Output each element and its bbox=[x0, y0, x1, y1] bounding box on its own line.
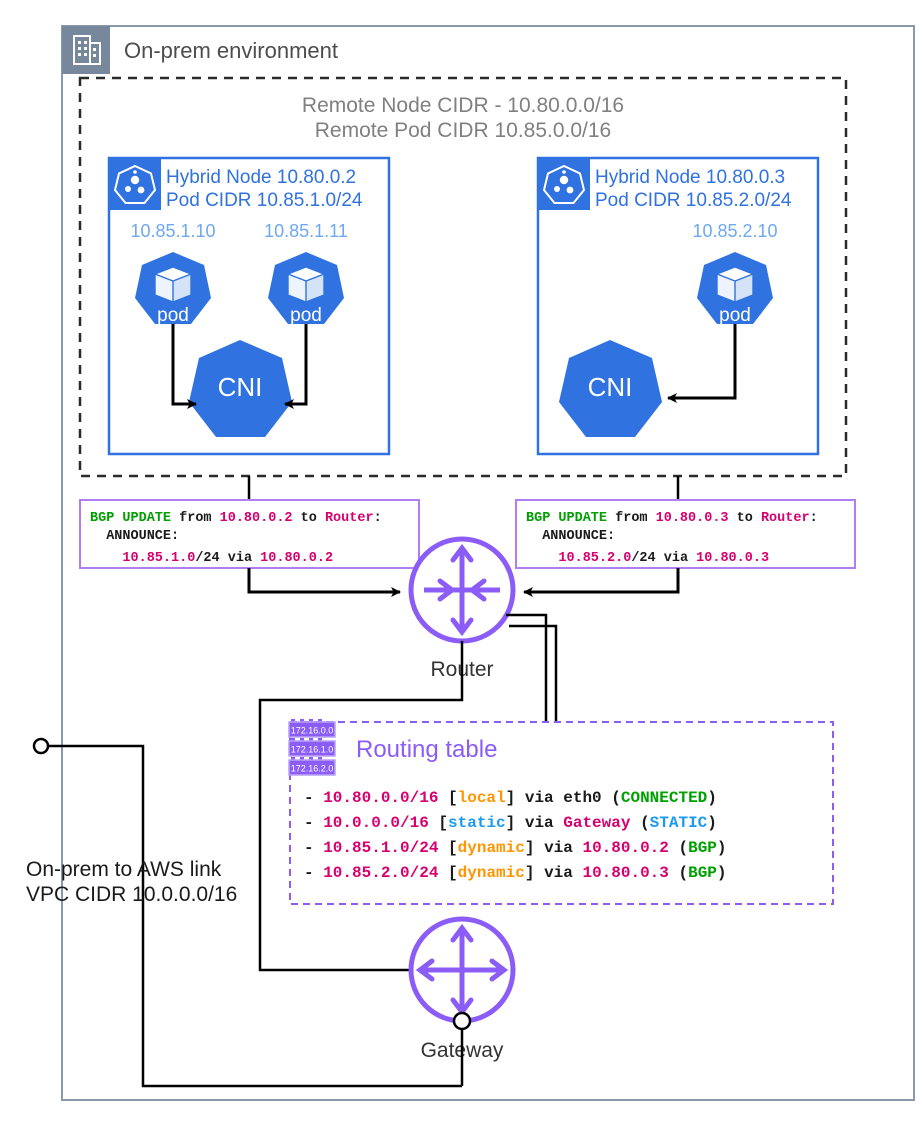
cube-icon bbox=[288, 267, 324, 302]
route-icon-label: 172.16.1.0 bbox=[291, 745, 334, 755]
aws-link-label-line1: On-prem to AWS link bbox=[26, 858, 222, 881]
link-endpoint-circle bbox=[34, 739, 48, 753]
bgp-right-line3: 10.85.2.0/24 via 10.80.0.3 bbox=[526, 551, 769, 566]
routing-table: 172.16.0.0 172.16.1.0 172.16.2.0 Routing… bbox=[289, 719, 833, 904]
cube-icon bbox=[155, 267, 191, 302]
pod-label: pod bbox=[719, 305, 751, 326]
node-2-title-line2: Pod CIDR 10.85.2.0/24 bbox=[595, 190, 792, 211]
bgp-right-line1: BGP UPDATE from 10.80.0.3 to Router: bbox=[526, 511, 818, 526]
network-diagram: On-prem environment Remote Node CIDR - 1… bbox=[0, 0, 922, 1124]
kubernetes-icon bbox=[109, 158, 161, 210]
bgp-update-left: BGP UPDATE from 10.80.0.2 to Router: ANN… bbox=[80, 500, 419, 568]
hybrid-node-2[interactable]: Hybrid Node 10.80.0.3 Pod CIDR 10.85.2.0… bbox=[538, 158, 818, 454]
route-entry-icon-3: 172.16.2.0 bbox=[289, 757, 335, 775]
kubernetes-icon bbox=[538, 158, 590, 210]
cni-label: CNI bbox=[588, 372, 633, 402]
route-entry-icon-2: 172.16.1.0 bbox=[289, 738, 335, 756]
bgp-left-line1: BGP UPDATE from 10.80.0.2 to Router: bbox=[90, 511, 382, 526]
cni-label: CNI bbox=[218, 372, 263, 402]
node-1-title-line1: Hybrid Node 10.80.0.2 bbox=[166, 167, 356, 188]
pod-label: pod bbox=[157, 305, 189, 326]
route-icon-label: 172.16.2.0 bbox=[291, 764, 334, 774]
bgp-right-line2: ANNOUNCE: bbox=[526, 529, 615, 544]
node-1-pod-ip-2: 10.85.1.11 bbox=[264, 221, 348, 241]
on-prem-title: On-prem environment bbox=[124, 38, 338, 63]
bgp-left-line2: ANNOUNCE: bbox=[90, 529, 179, 544]
aws-link-label-line2: VPC CIDR 10.0.0.0/16 bbox=[26, 883, 237, 906]
diagram-canvas: On-prem environment Remote Node CIDR - 1… bbox=[0, 0, 922, 1124]
node-2-title-line1: Hybrid Node 10.80.0.3 bbox=[595, 167, 785, 188]
pod-label: pod bbox=[290, 305, 322, 326]
node-1-title-line2: Pod CIDR 10.85.1.0/24 bbox=[166, 190, 363, 211]
routing-table-title: Routing table bbox=[356, 736, 497, 763]
remote-pod-cidr-label: Remote Pod CIDR 10.85.0.0/16 bbox=[315, 119, 612, 142]
remote-node-cidr-label: Remote Node CIDR - 10.80.0.0/16 bbox=[302, 94, 624, 117]
routing-table-row: - 10.0.0.0/16 [static] via Gateway (STAT… bbox=[304, 814, 717, 832]
routing-table-row: - 10.80.0.0/16 [local] via eth0 (CONNECT… bbox=[304, 789, 717, 807]
bgp-update-right: BGP UPDATE from 10.80.0.3 to Router: ANN… bbox=[516, 500, 855, 568]
cube-icon bbox=[717, 267, 753, 302]
node-1-pod-ip-1: 10.85.1.10 bbox=[130, 221, 215, 241]
routing-table-row: - 10.85.1.0/24 [dynamic] via 10.80.0.2 (… bbox=[304, 839, 727, 857]
hybrid-node-1[interactable]: Hybrid Node 10.80.0.2 Pod CIDR 10.85.1.0… bbox=[109, 158, 389, 454]
route-entry-icon-1: 172.16.0.0 bbox=[289, 719, 335, 737]
route-icon-label: 172.16.0.0 bbox=[291, 726, 334, 736]
bgp-left-line3: 10.85.1.0/24 via 10.80.0.2 bbox=[90, 551, 333, 566]
routing-table-row: - 10.85.2.0/24 [dynamic] via 10.80.0.3 (… bbox=[304, 864, 727, 882]
node-2-pod-ip-1: 10.85.2.10 bbox=[692, 221, 777, 241]
gateway-endpoint-circle bbox=[454, 1013, 470, 1029]
